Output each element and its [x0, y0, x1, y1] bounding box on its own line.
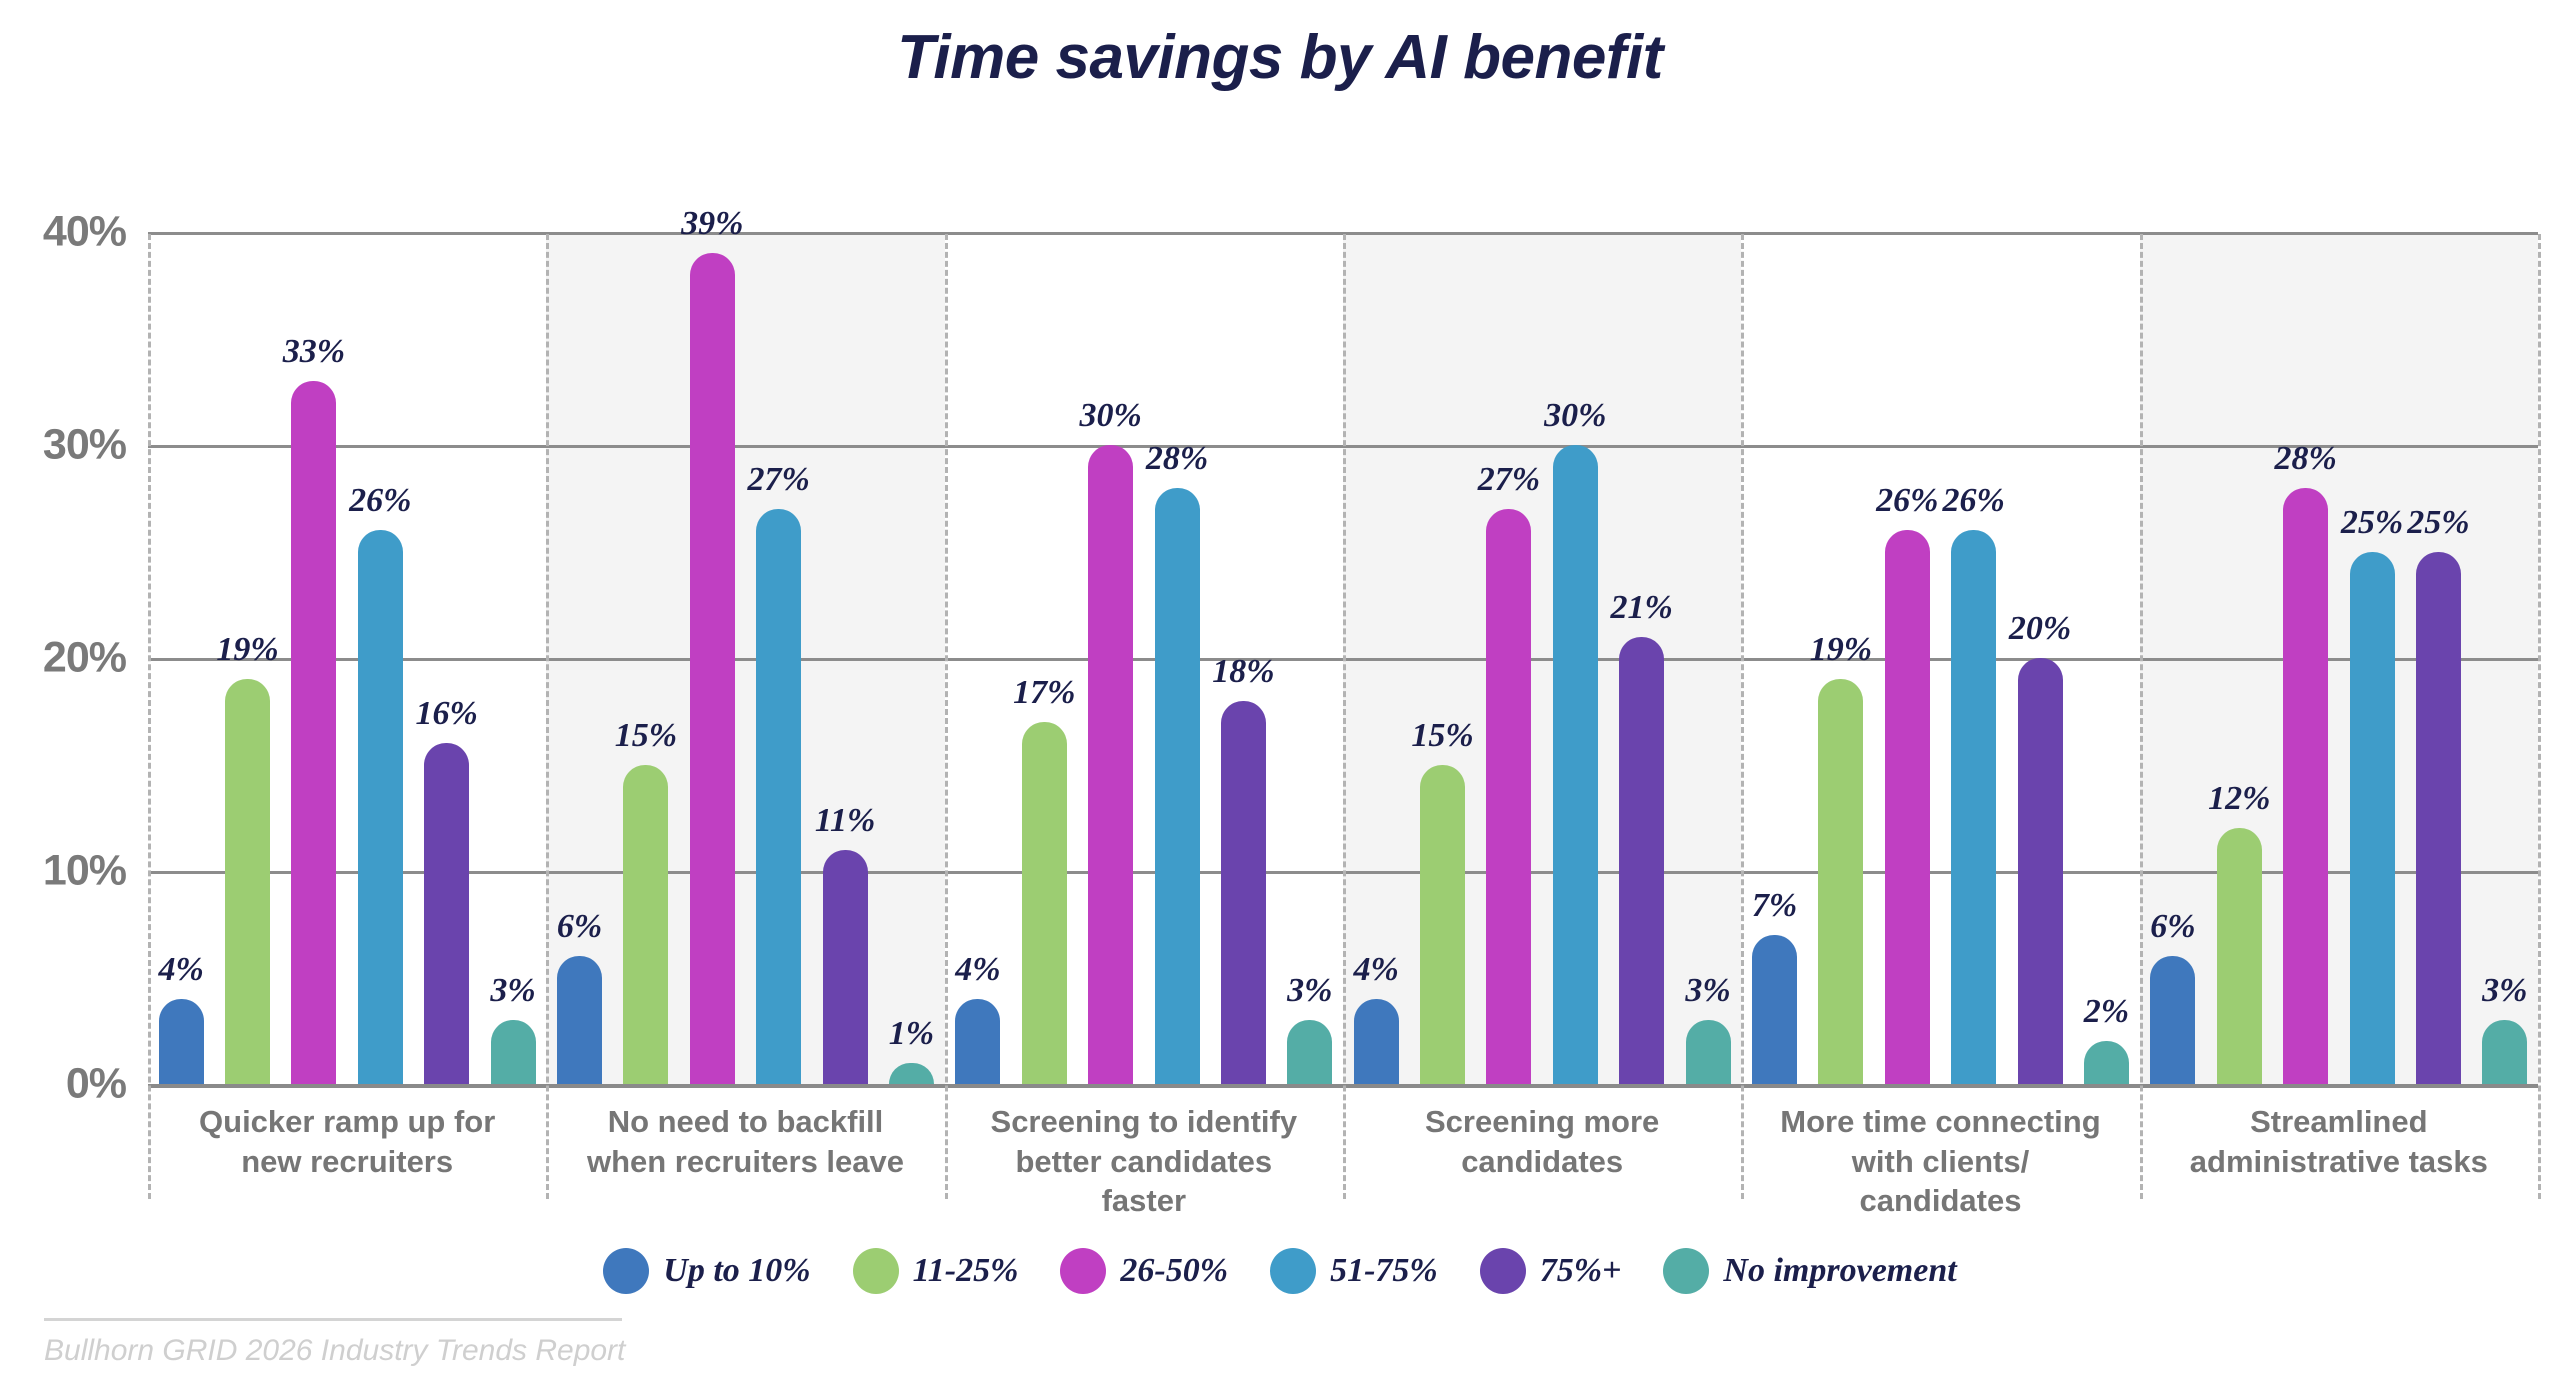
bar-slot: 3% [480, 232, 546, 1084]
bar-value-label: 1% [889, 1015, 934, 1053]
bar-value-label: 15% [615, 717, 677, 755]
category-label-line: when recruiters leave [546, 1142, 944, 1182]
bar[interactable] [1553, 445, 1598, 1084]
bar-slot: 27% [1476, 232, 1542, 1084]
bar-group-2: 6%15%39%27%11%1% [546, 232, 944, 1084]
legend-label: Up to 10% [663, 1252, 810, 1290]
bar-slot: 16% [414, 232, 480, 1084]
bar-slot: 26% [1940, 232, 2006, 1084]
bar-value-label: 21% [1611, 589, 1673, 627]
bar-slot: 15% [613, 232, 679, 1084]
bar-slot: 6% [546, 232, 612, 1084]
bar-group-5: 7%19%26%26%20%2% [1741, 232, 2139, 1084]
bar[interactable] [1420, 765, 1465, 1085]
y-tick-label-20: 20% [0, 634, 126, 683]
bar-slot: 1% [878, 232, 944, 1084]
page-title: Time savings by AI benefit [0, 22, 2560, 93]
bar-slot: 30% [1077, 232, 1143, 1084]
bar[interactable] [2416, 552, 2461, 1085]
y-tick-label-0: 0% [0, 1060, 126, 1109]
bar-slot: 3% [2472, 232, 2538, 1084]
bar[interactable] [1752, 935, 1797, 1084]
bar-slot: 6% [2140, 232, 2206, 1084]
bar[interactable] [1818, 679, 1863, 1084]
bar-slot: 26% [347, 232, 413, 1084]
bar-group-6: 6%12%28%25%25%3% [2140, 232, 2538, 1084]
bar-value-label: 3% [1685, 972, 1730, 1010]
category-label-line: candidates [1741, 1181, 2139, 1221]
bar-slot: 11% [812, 232, 878, 1084]
chart-page: Time savings by AI benefit 0%10%20%30%40… [0, 0, 2560, 1394]
bar-group-4: 4%15%27%30%21%3% [1343, 232, 1741, 1084]
bar-value-label: 26% [1876, 482, 1938, 520]
bar-value-label: 33% [283, 333, 345, 371]
bar-slot: 39% [679, 232, 745, 1084]
bar-slot: 7% [1741, 232, 1807, 1084]
bar-value-label: 26% [349, 482, 411, 520]
bar-value-label: 27% [748, 461, 810, 499]
bar[interactable] [823, 850, 868, 1084]
legend-label: 51-75% [1330, 1252, 1438, 1290]
bar-slot: 25% [2339, 232, 2405, 1084]
legend-swatch-icon [603, 1248, 649, 1294]
bar-value-label: 27% [1478, 461, 1540, 499]
category-label-line: new recruiters [148, 1142, 546, 1182]
bar[interactable] [1155, 488, 1200, 1084]
bar-slot: 33% [281, 232, 347, 1084]
bar-slot: 27% [745, 232, 811, 1084]
legend-label: 11-25% [913, 1252, 1019, 1290]
bar[interactable] [1022, 722, 1067, 1084]
legend-label: 26-50% [1120, 1252, 1228, 1290]
bar[interactable] [1486, 509, 1531, 1084]
category-label-1: Quicker ramp up fornew recruiters [148, 1102, 546, 1181]
bar-value-label: 28% [2274, 440, 2336, 478]
bar-value-label: 3% [2482, 972, 2527, 1010]
bar-value-label: 4% [159, 951, 204, 989]
bar[interactable] [225, 679, 270, 1084]
bar-value-label: 6% [2150, 908, 2195, 946]
bar-value-label: 18% [1212, 653, 1274, 691]
y-tick-label-10: 10% [0, 847, 126, 896]
bar-slot: 15% [1409, 232, 1475, 1084]
category-label-line: More time connecting [1741, 1102, 2139, 1142]
bar[interactable] [557, 956, 602, 1084]
bar[interactable] [159, 999, 204, 1084]
bar[interactable] [2150, 956, 2195, 1084]
category-label-line: Quicker ramp up for [148, 1102, 546, 1142]
bar-value-label: 19% [216, 631, 278, 669]
group-separator-6 [2538, 234, 2541, 1199]
category-label-line: with clients/ [1741, 1142, 2139, 1182]
legend-item-4[interactable]: 51-75% [1270, 1248, 1438, 1294]
bar-value-label: 16% [416, 695, 478, 733]
bar[interactable] [1951, 530, 1996, 1084]
bar[interactable] [358, 530, 403, 1084]
plot-area: 0%10%20%30%40% 4%19%33%26%16%3%6%15%39%2… [148, 232, 2538, 1084]
bar-slot: 4% [1343, 232, 1409, 1084]
bar-slot: 21% [1609, 232, 1675, 1084]
bar-slot: 19% [214, 232, 280, 1084]
bar[interactable] [2084, 1041, 2129, 1084]
category-label-line: Screening to identify [945, 1102, 1343, 1142]
bar-slot: 18% [1210, 232, 1276, 1084]
bar-value-label: 3% [490, 972, 535, 1010]
bar-slot: 19% [1808, 232, 1874, 1084]
x-axis-category-labels: Quicker ramp up fornew recruitersNo need… [148, 1102, 2538, 1202]
category-label-3: Screening to identifybetter candidatesfa… [945, 1102, 1343, 1221]
legend-swatch-icon [1060, 1248, 1106, 1294]
bar-value-label: 2% [2084, 993, 2129, 1031]
bar-value-label: 30% [1544, 397, 1606, 435]
bar-value-label: 4% [955, 951, 1000, 989]
bar[interactable] [2283, 488, 2328, 1084]
legend-label: No improvement [1723, 1252, 1956, 1290]
bar[interactable] [889, 1063, 934, 1084]
bar[interactable] [2217, 828, 2262, 1084]
bar-value-label: 17% [1013, 674, 1075, 712]
bar-slot: 26% [1874, 232, 1940, 1084]
legend-swatch-icon [1480, 1248, 1526, 1294]
y-tick-label-40: 40% [0, 208, 126, 257]
bar-value-label: 12% [2208, 780, 2270, 818]
legend-item-1[interactable]: Up to 10% [603, 1248, 810, 1294]
bar-value-label: 15% [1411, 717, 1473, 755]
bar[interactable] [1221, 701, 1266, 1084]
bar-value-label: 3% [1287, 972, 1332, 1010]
chart-legend: Up to 10%11-25%26-50%51-75%75%+No improv… [0, 1248, 2560, 1294]
bar-slot: 30% [1542, 232, 1608, 1084]
bar-slot: 3% [1277, 232, 1343, 1084]
bar[interactable] [1354, 999, 1399, 1084]
bar[interactable] [491, 1020, 536, 1084]
category-label-line: Streamlined [2140, 1102, 2538, 1142]
bar-value-label: 6% [557, 908, 602, 946]
bar-value-label: 11% [815, 802, 875, 840]
bar-value-label: 26% [1943, 482, 2005, 520]
bar[interactable] [623, 765, 668, 1085]
bar[interactable] [1885, 530, 1930, 1084]
bar-value-label: 4% [1354, 951, 1399, 989]
legend-swatch-icon [1270, 1248, 1316, 1294]
bar[interactable] [1686, 1020, 1731, 1084]
y-tick-label-30: 30% [0, 421, 126, 470]
bar-slot: 17% [1011, 232, 1077, 1084]
bar-value-label: 19% [1810, 631, 1872, 669]
bar-slot: 4% [945, 232, 1011, 1084]
category-label-5: More time connectingwith clients/candida… [1741, 1102, 2139, 1221]
category-label-line: faster [945, 1181, 1343, 1221]
bar[interactable] [291, 381, 336, 1084]
footer-divider [44, 1318, 622, 1321]
legend-item-3[interactable]: 26-50% [1060, 1248, 1228, 1294]
bar-value-label: 7% [1752, 887, 1797, 925]
bar-slot: 4% [148, 232, 214, 1084]
bar[interactable] [955, 999, 1000, 1084]
category-label-6: Streamlinedadministrative tasks [2140, 1102, 2538, 1181]
legend-item-5[interactable]: 75%+ [1480, 1248, 1622, 1294]
bar-slot: 28% [1144, 232, 1210, 1084]
category-label-4: Screening morecandidates [1343, 1102, 1741, 1181]
category-label-line: candidates [1343, 1142, 1741, 1182]
bar-value-label: 25% [2341, 504, 2403, 542]
source-caption: Bullhorn GRID 2026 Industry Trends Repor… [44, 1334, 625, 1368]
bar-slot: 28% [2272, 232, 2338, 1084]
bar-slot: 12% [2206, 232, 2272, 1084]
category-label-line: administrative tasks [2140, 1142, 2538, 1182]
bar[interactable] [2350, 552, 2395, 1085]
bar-slot: 20% [2007, 232, 2073, 1084]
legend-item-6[interactable]: No improvement [1663, 1248, 1956, 1294]
bar[interactable] [424, 743, 469, 1084]
bar-value-label: 39% [681, 205, 743, 243]
category-label-line: better candidates [945, 1142, 1343, 1182]
legend-swatch-icon [1663, 1248, 1709, 1294]
bar-group-3: 4%17%30%28%18%3% [945, 232, 1343, 1084]
bar[interactable] [2018, 658, 2063, 1084]
bar[interactable] [690, 253, 735, 1084]
bar-value-label: 20% [2009, 610, 2071, 648]
bar-slot: 25% [2405, 232, 2471, 1084]
bar[interactable] [756, 509, 801, 1084]
bar-value-label: 25% [2407, 504, 2469, 542]
category-label-line: Screening more [1343, 1102, 1741, 1142]
category-label-line: No need to backfill [546, 1102, 944, 1142]
bar-value-label: 30% [1079, 397, 1141, 435]
bar-slot: 3% [1675, 232, 1741, 1084]
bar[interactable] [1287, 1020, 1332, 1084]
bar-group-1: 4%19%33%26%16%3% [148, 232, 546, 1084]
bar[interactable] [1619, 637, 1664, 1084]
legend-label: 75%+ [1540, 1252, 1622, 1290]
bar-slot: 2% [2073, 232, 2139, 1084]
category-label-2: No need to backfillwhen recruiters leave [546, 1102, 944, 1181]
bar[interactable] [1088, 445, 1133, 1084]
bar-value-label: 28% [1146, 440, 1208, 478]
bar[interactable] [2482, 1020, 2527, 1084]
legend-swatch-icon [853, 1248, 899, 1294]
legend-item-2[interactable]: 11-25% [853, 1248, 1019, 1294]
